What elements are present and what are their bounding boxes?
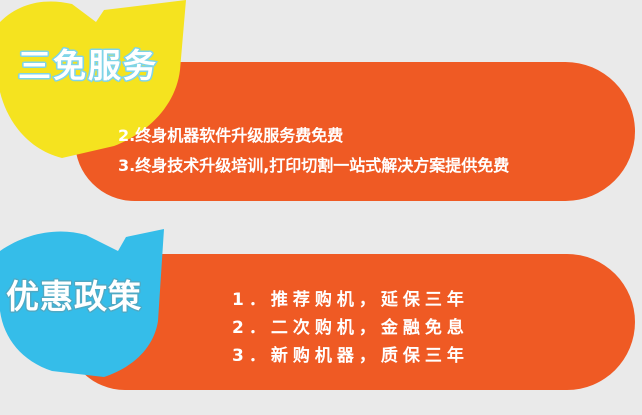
policy-text-block: 1．推荐购机，延保三年 2．二次购机，金融免息 3．新购机器，质保三年 bbox=[232, 286, 469, 370]
promo-poster: 三免服务 2.终身机器软件升级服务费免费 3.终身技术升级培训,打印切割一站式解… bbox=[0, 0, 642, 415]
section-title-three-free-service: 三免服务 bbox=[18, 39, 158, 87]
service-line-2: 3.终身技术升级培训,打印切割一站式解决方案提供免费 bbox=[118, 151, 509, 181]
service-text-block: 2.终身机器软件升级服务费免费 3.终身技术升级培训,打印切割一站式解决方案提供… bbox=[118, 121, 509, 181]
section-title-preferential-policy: 优惠政策 bbox=[6, 270, 142, 318]
service-line-1: 2.终身机器软件升级服务费免费 bbox=[118, 121, 509, 151]
policy-line-1: 1．推荐购机，延保三年 bbox=[232, 286, 469, 314]
policy-line-2: 2．二次购机，金融免息 bbox=[232, 314, 469, 342]
policy-line-3: 3．新购机器，质保三年 bbox=[232, 342, 469, 370]
